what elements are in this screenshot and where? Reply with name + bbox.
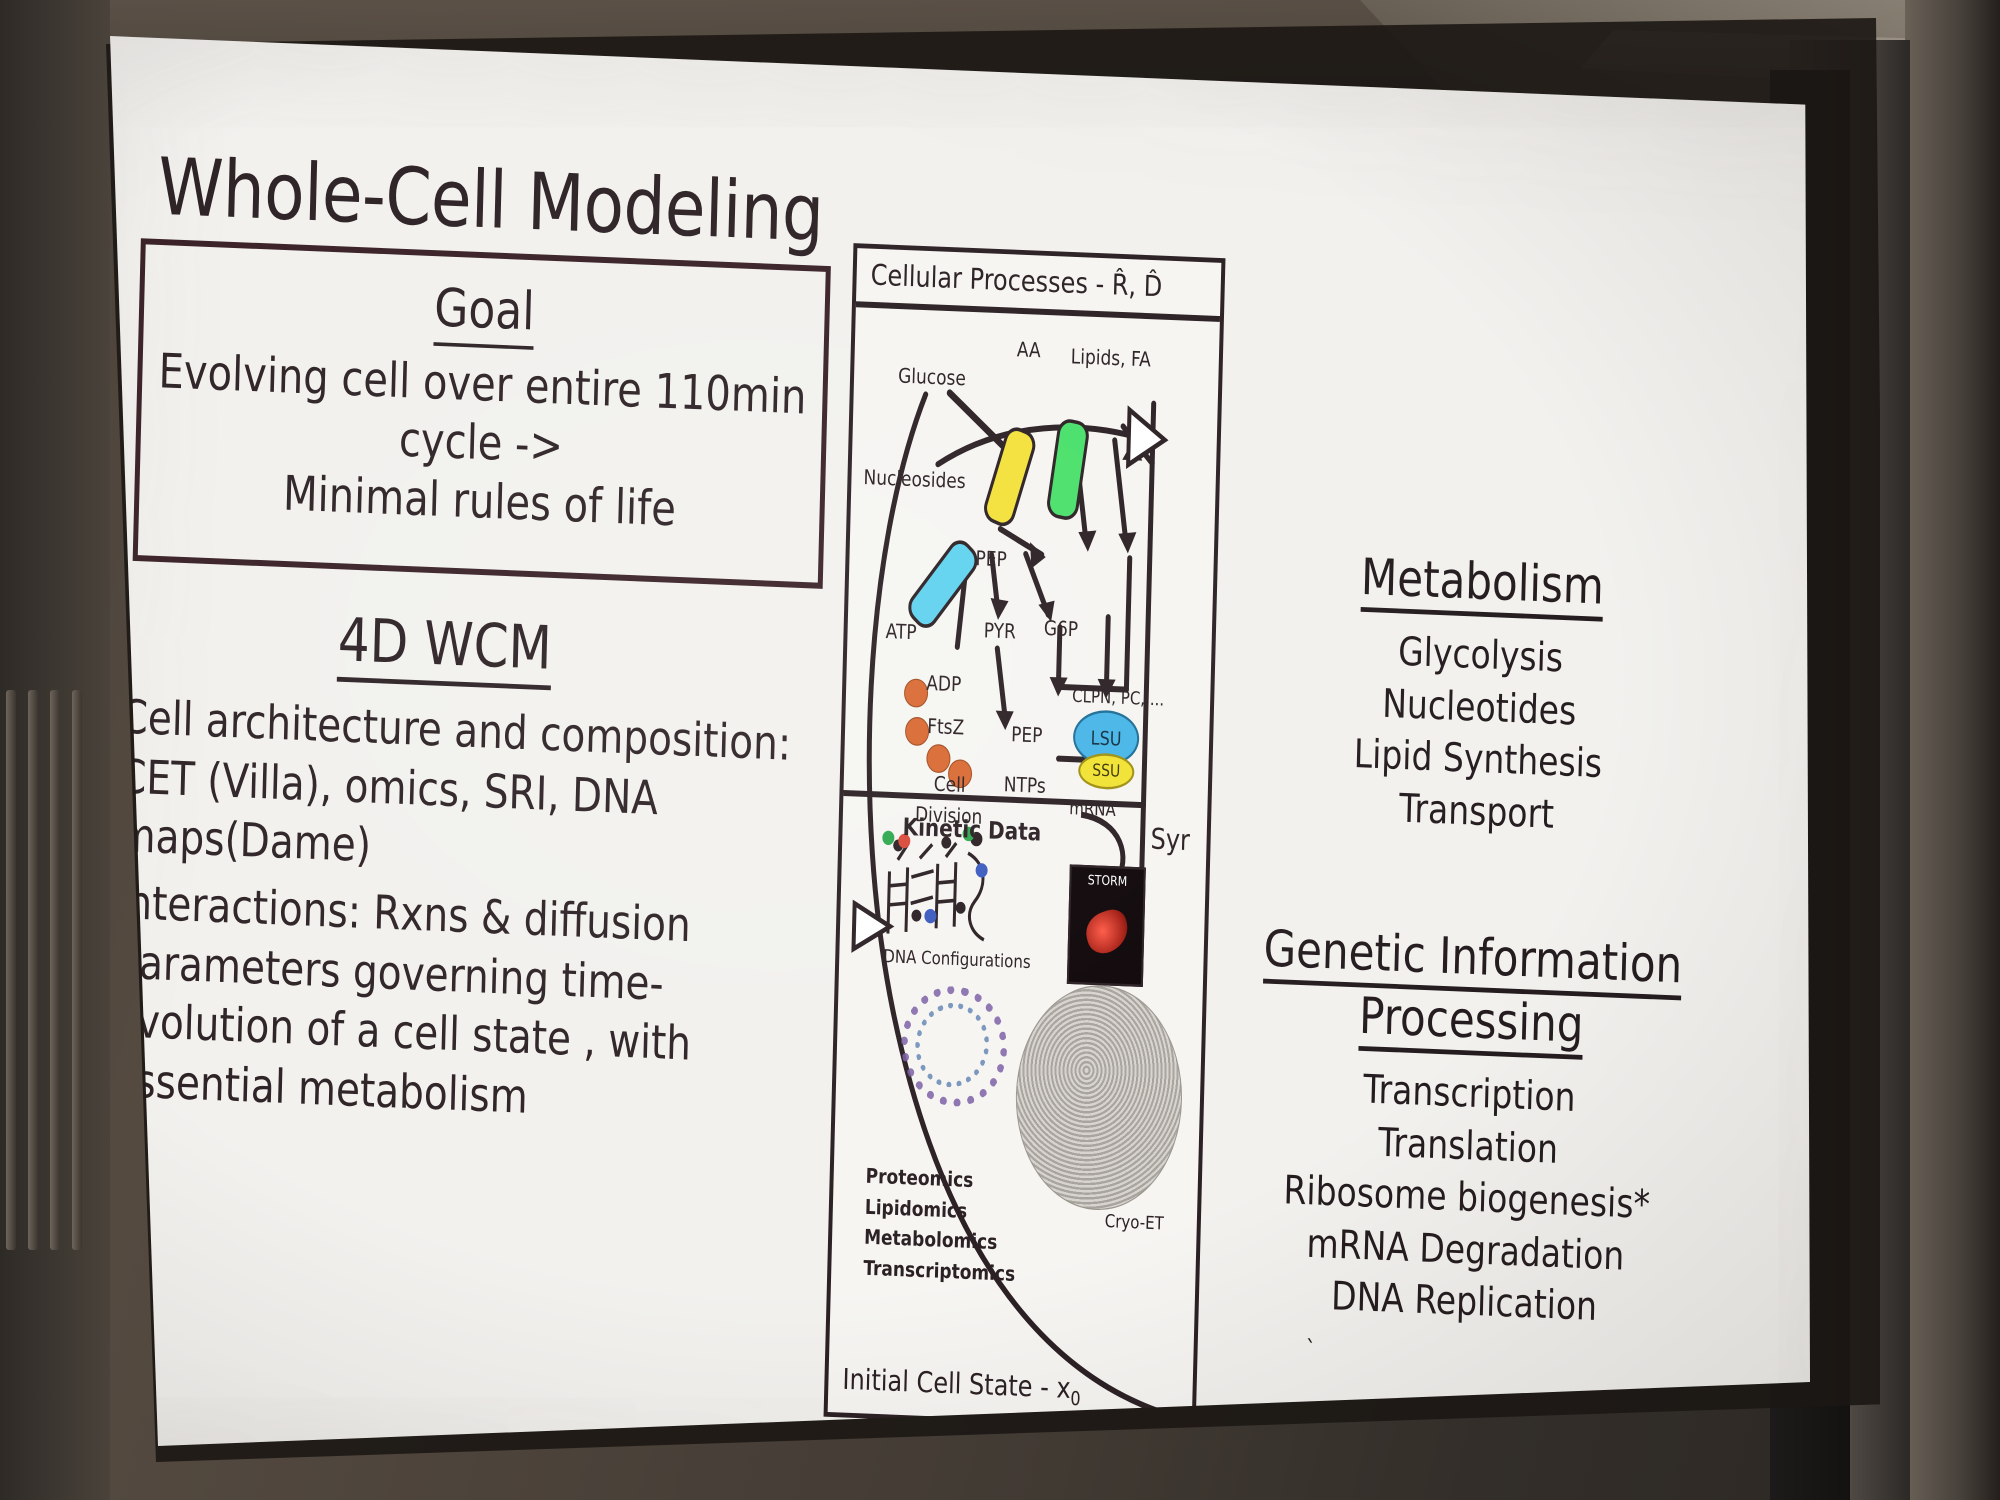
- goal-heading-text: Goal: [433, 278, 535, 350]
- label-lipids: Lipids, FA: [1070, 345, 1151, 372]
- label-adp: ADP: [926, 672, 962, 697]
- label-nucleosides: Nucleosides: [863, 466, 966, 494]
- label-clpn: CLPN, PC, ...: [1072, 685, 1165, 710]
- goal-body: Evolving cell over entire 110min cycle -…: [147, 343, 815, 545]
- label-atp: ATP: [885, 620, 917, 645]
- projection-screen: Whole-Cell Modeling Goal Evolving cell o…: [110, 26, 1810, 1446]
- label-ntps: NTPs: [1004, 773, 1047, 799]
- label-g6p: G6P: [1044, 617, 1079, 642]
- initial-cell-state-subscript: 0: [1070, 1387, 1081, 1410]
- gip-list: Transcription Translation Ribosome bioge…: [1248, 1059, 1685, 1337]
- omics-list: Proteomics Lipidomics Metabolomics Trans…: [863, 1162, 1018, 1290]
- label-pyr: PYR: [983, 619, 1016, 644]
- stray-pen-mark: `: [1305, 1335, 1316, 1364]
- metabolism-heading-text: Metabolism: [1360, 548, 1604, 621]
- storm-label: STORM: [1071, 872, 1143, 890]
- goal-heading: Goal: [144, 266, 826, 354]
- storm-image: STORM: [1067, 864, 1146, 987]
- label-ftsz: FtsZ: [927, 715, 965, 740]
- goal-box: Goal Evolving cell over entire 110min cy…: [133, 238, 831, 589]
- wcm-heading: 4D WCM: [94, 595, 796, 693]
- label-cell: Cell: [933, 773, 965, 798]
- label-aa: AA: [1017, 338, 1041, 363]
- genetic-information-processing-block: Genetic Information Processing Transcrip…: [1248, 920, 1688, 1336]
- metabolism-block: Metabolism Glycolysis Nucleotides Lipid …: [1261, 545, 1698, 846]
- label-pep-top: PEP: [975, 547, 1007, 572]
- wall-right-edge: [1905, 0, 2000, 1500]
- gip-heading: Genetic Information Processing: [1255, 920, 1688, 1064]
- label-glucose: Glucose: [898, 365, 966, 392]
- wcm-heading-text: 4D WCM: [337, 605, 553, 690]
- label-mrna: mRNA: [1069, 797, 1116, 820]
- label-pep-mid: PEP: [1011, 723, 1043, 748]
- screenshot-root: Whole-Cell Modeling Goal Evolving cell o…: [0, 0, 2000, 1500]
- label-syr: Syr: [1150, 822, 1190, 857]
- storm-blob: [1082, 905, 1132, 958]
- wcm-interactions-paragraph: Interactions: Rxns & diffusion parameter…: [111, 874, 817, 1139]
- label-cryo-et: Cryo-ET: [1105, 1210, 1165, 1234]
- presentation-slide: Whole-Cell Modeling Goal Evolving cell o…: [74, 36, 1870, 1500]
- gip-heading-line-2: Processing: [1358, 987, 1584, 1059]
- omics-item-transcriptomics: Transcriptomics: [863, 1254, 1016, 1291]
- wcm-architecture-paragraph: Cell architecture and composition: CET (…: [117, 688, 822, 894]
- label-kinetic-data: Kinetic Data: [902, 812, 1041, 846]
- window-blinds: [0, 690, 120, 1250]
- lsu-label: LSU: [1090, 726, 1121, 750]
- metabolism-list: Glycolysis Nucleotides Lipid Synthesis T…: [1261, 620, 1696, 846]
- cellular-processes-diagram: Cellular Processes - R̂, D̂: [824, 243, 1226, 1432]
- metabolism-heading: Metabolism: [1267, 545, 1699, 626]
- ssu-label: SSU: [1092, 761, 1121, 781]
- gip-heading-line-1: Genetic Information: [1263, 920, 1683, 1000]
